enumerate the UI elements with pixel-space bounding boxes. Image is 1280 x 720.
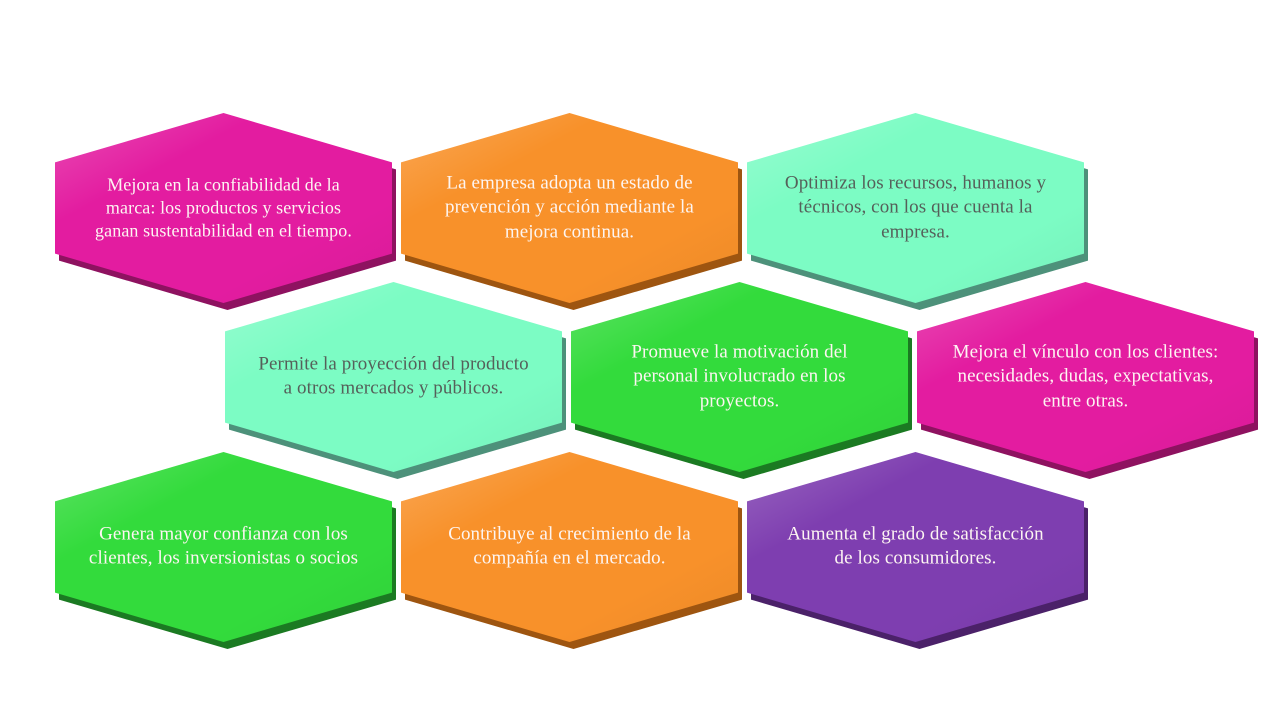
hexagon-label: Genera mayor confianza con los clientes,… bbox=[85, 523, 361, 572]
hexagon-label: Optimiza los recursos, humanos y técnico… bbox=[777, 172, 1053, 245]
hex-confianza-clientes[interactable]: Genera mayor confianza con los clientes,… bbox=[55, 452, 392, 642]
hex-optimiza-recursos[interactable]: Optimiza los recursos, humanos y técnico… bbox=[747, 113, 1084, 303]
hexagon-label: Promueve la motivación del personal invo… bbox=[601, 341, 877, 414]
hexagon-diagram-canvas: Mejora en la confiabilidad de la marca: … bbox=[0, 0, 1280, 720]
hex-motivacion-personal[interactable]: Promueve la motivación del personal invo… bbox=[571, 282, 908, 472]
hexagon-label: Aumenta el grado de satisfacción de los … bbox=[777, 523, 1053, 572]
hex-confiabilidad-marca[interactable]: Mejora en la confiabilidad de la marca: … bbox=[55, 113, 392, 303]
hexagon-label: Mejora el vínculo con los clientes: nece… bbox=[947, 341, 1223, 414]
hexagon-label: Mejora en la confiabilidad de la marca: … bbox=[85, 173, 361, 242]
hex-proyeccion-producto[interactable]: Permite la proyección del producto a otr… bbox=[225, 282, 562, 472]
hexagon-label: Permite la proyección del producto a otr… bbox=[255, 353, 531, 402]
hexagon-label: La empresa adopta un estado de prevenció… bbox=[431, 172, 707, 245]
hex-vinculo-clientes[interactable]: Mejora el vínculo con los clientes: nece… bbox=[917, 282, 1254, 472]
hex-crecimiento-compania[interactable]: Contribuye al crecimiento de la compañía… bbox=[401, 452, 738, 642]
hex-prevencion-mejora-continua[interactable]: La empresa adopta un estado de prevenció… bbox=[401, 113, 738, 303]
hex-satisfaccion-consumidores[interactable]: Aumenta el grado de satisfacción de los … bbox=[747, 452, 1084, 642]
hexagon-label: Contribuye al crecimiento de la compañía… bbox=[431, 523, 707, 572]
